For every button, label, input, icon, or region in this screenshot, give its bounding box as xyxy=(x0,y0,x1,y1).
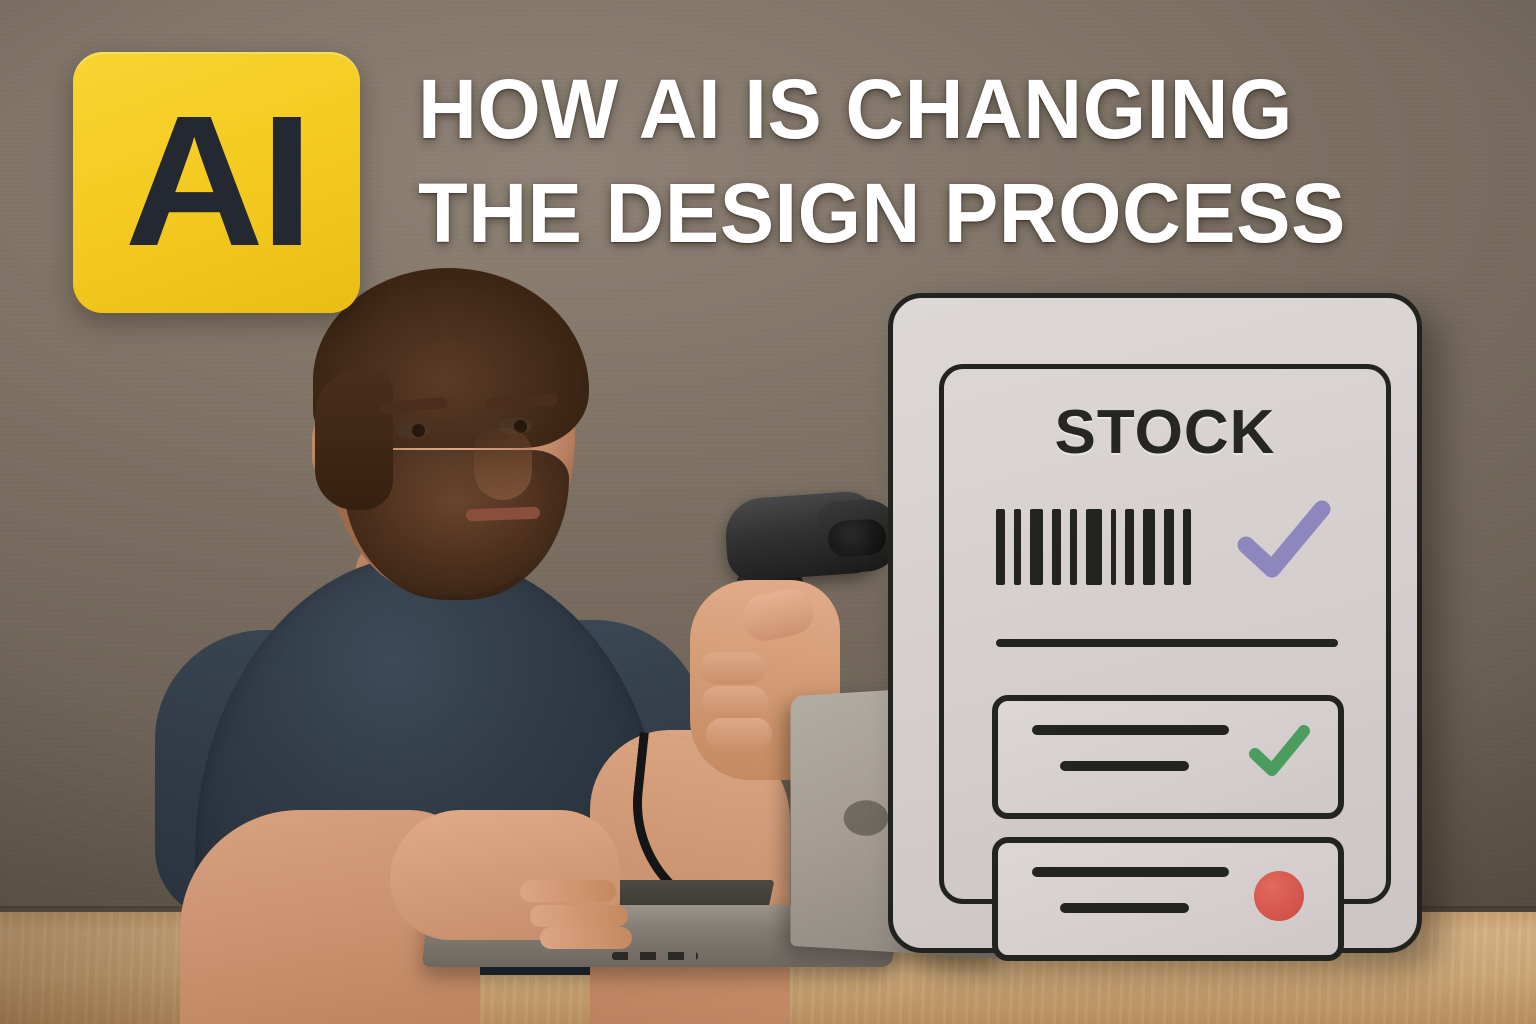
headline-line-2: THE DESIGN PROCESS xyxy=(418,161,1398,265)
purple-check-icon xyxy=(1236,497,1332,583)
mouth xyxy=(466,507,540,522)
barcode-bar xyxy=(996,509,1005,585)
red-dot-icon xyxy=(1254,871,1304,921)
finger-right-1 xyxy=(700,652,766,684)
barcode-scanner-lens xyxy=(827,518,887,558)
laptop-logo xyxy=(844,800,889,836)
stock-panel-inner-frame: STOCK xyxy=(939,364,1391,904)
hair-sideburn xyxy=(315,370,393,510)
barcode-bar xyxy=(1143,509,1155,585)
barcode-bar xyxy=(1164,509,1174,585)
finger-right-3 xyxy=(706,718,772,750)
finger-right-2 xyxy=(702,686,768,718)
barcode-graphic xyxy=(996,509,1191,585)
row-1-line-secondary xyxy=(1060,761,1189,771)
barcode-bar xyxy=(1030,509,1043,585)
barcode-bar xyxy=(1052,509,1061,585)
headline-line-1: HOW AI IS CHANGING xyxy=(418,57,1398,161)
finger-left-1 xyxy=(520,880,616,902)
finger-left-2 xyxy=(530,905,628,927)
pupil-left xyxy=(412,424,425,437)
ai-badge-label: AI xyxy=(124,106,309,259)
row-2-line-secondary xyxy=(1060,903,1189,913)
ai-badge: AI xyxy=(73,52,360,313)
stock-panel: STOCK xyxy=(888,293,1422,953)
stock-row-1 xyxy=(992,695,1344,819)
row-1-line-primary xyxy=(1032,725,1229,735)
barcode-bar xyxy=(1183,509,1191,585)
row-2-line-primary xyxy=(1032,867,1229,877)
finger-left-3 xyxy=(540,927,632,949)
barcode-bar xyxy=(1111,509,1116,585)
headline: HOW AI IS CHANGING THE DESIGN PROCESS xyxy=(418,57,1428,265)
stock-panel-title: STOCK xyxy=(944,397,1386,468)
barcode-bar xyxy=(1070,509,1077,585)
barcode-bar xyxy=(1125,509,1134,585)
green-check-icon xyxy=(1248,723,1310,779)
barcode-bar xyxy=(1086,509,1102,585)
barcode-bar xyxy=(1014,509,1021,585)
scene-canvas: STOCK AI HOW AI IS CHA xyxy=(0,0,1536,1024)
stock-divider xyxy=(996,639,1338,647)
laptop-ports xyxy=(612,952,698,960)
stock-row-2 xyxy=(992,837,1344,961)
nose xyxy=(474,428,532,500)
